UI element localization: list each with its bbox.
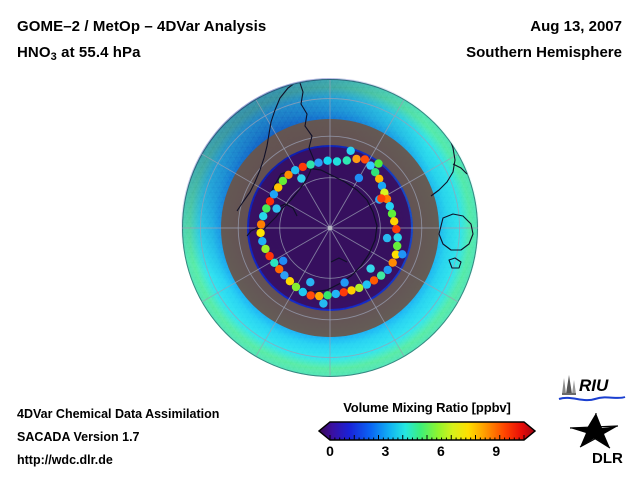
globe-container — [181, 78, 479, 378]
header-left-block: GOME–2 / MetOp – 4DVar Analysis HNO3 at … — [17, 14, 266, 70]
colorbar-tick-0: 0 — [326, 443, 334, 459]
colorbar-figure — [318, 420, 536, 442]
page-title: GOME–2 / MetOp – 4DVar Analysis — [17, 14, 266, 40]
hemisphere-label: Southern Hemisphere — [466, 40, 622, 66]
footer-credits: 4DVar Chemical Data Assimilation SACADA … — [17, 403, 219, 472]
riu-wordmark: RIU — [579, 376, 609, 395]
species-formula-prefix: HNO — [17, 44, 51, 61]
dlr-arrow-icon — [570, 413, 618, 448]
polar-map-panel — [181, 78, 481, 380]
colorbar-tick-labels: 0369 — [318, 443, 536, 461]
colorbar-legend: Volume Mixing Ratio [ppbv] 0369 — [318, 400, 536, 461]
dlr-logo: DLR — [562, 412, 628, 466]
hno3-field-raster — [182, 79, 478, 377]
riu-wave-icon — [559, 397, 625, 400]
colorbar-title: Volume Mixing Ratio [ppbv] — [318, 400, 536, 415]
colorbar-tick-9: 9 — [492, 443, 500, 459]
analysis-date: Aug 13, 2007 — [466, 14, 622, 40]
species-line: HNO3 at 55.4 hPa — [17, 40, 266, 70]
species-pressure-level: at 55.4 hPa — [57, 44, 141, 61]
credit-line-url[interactable]: http://wdc.dlr.de — [17, 449, 219, 472]
dlr-wordmark: DLR — [592, 450, 623, 466]
credit-line-version: SACADA Version 1.7 — [17, 426, 219, 449]
riu-logo: RIU — [557, 374, 627, 404]
riu-tower-icon — [562, 375, 576, 395]
colorbar-tick-3: 3 — [382, 443, 390, 459]
header-right-block: Aug 13, 2007 Southern Hemisphere — [466, 14, 622, 66]
colorbar-tick-6: 6 — [437, 443, 445, 459]
credit-line-assimilation: 4DVar Chemical Data Assimilation — [17, 403, 219, 426]
